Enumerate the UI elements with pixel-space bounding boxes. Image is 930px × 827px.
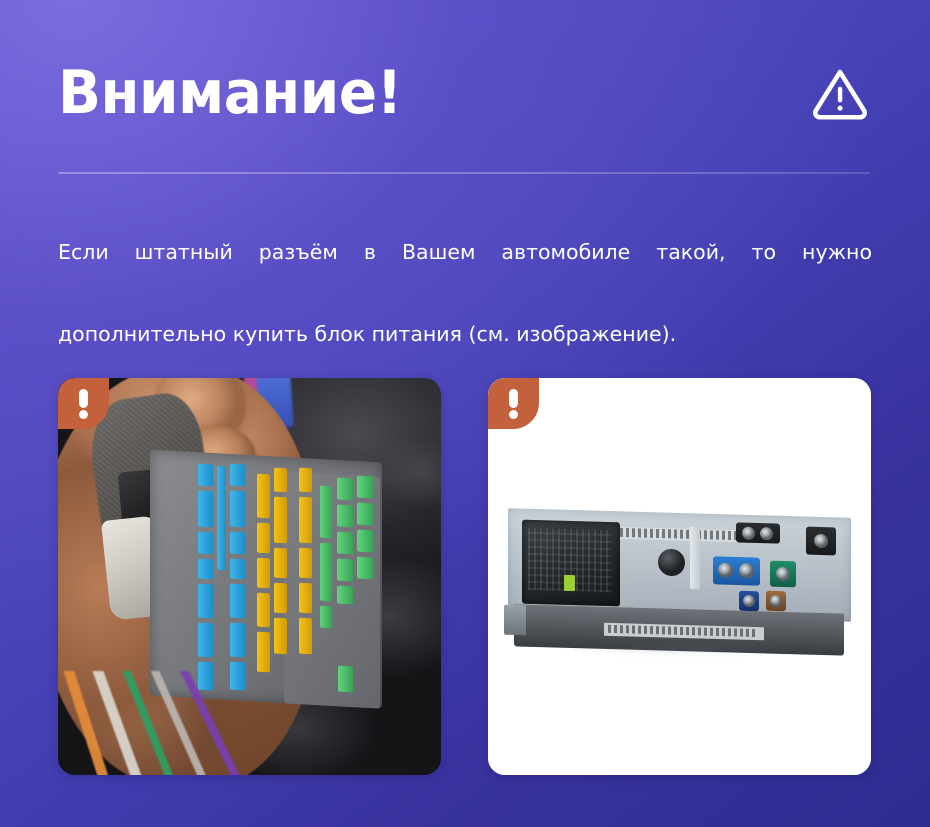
- pin-column-green-lower: [338, 666, 353, 693]
- exclamation-icon: [509, 389, 518, 419]
- pin-column-blue: [230, 464, 245, 691]
- wire-bundle: [58, 671, 284, 775]
- connector-photo: [58, 378, 441, 775]
- pin-column-yellow: [299, 468, 312, 655]
- pin-column-green: [320, 486, 332, 629]
- image-card-connector[interactable]: [58, 378, 441, 775]
- pin-column-yellow: [274, 468, 287, 655]
- module-navy-port: [739, 591, 759, 612]
- module-green-key: [564, 575, 575, 591]
- header-divider: [58, 172, 870, 174]
- image-card-group: [58, 378, 872, 775]
- module-vertical-panel: [690, 527, 700, 589]
- warning-badge: [488, 378, 539, 429]
- pin-column-yellow: [257, 474, 270, 673]
- exclamation-icon: [79, 389, 88, 419]
- pin-column-blue-tall: [217, 466, 226, 571]
- pin-column-green: [337, 478, 353, 605]
- pin-column-green: [357, 476, 373, 580]
- module-antenna-port-pair: [736, 522, 780, 543]
- page-title: Внимание!: [58, 61, 402, 125]
- header: Внимание!: [58, 52, 872, 134]
- module-blue-port-pair: [713, 556, 760, 585]
- module-round-port: [658, 549, 685, 577]
- body-copy-line-1: Если штатный разъём в Вашем автомобиле т…: [58, 232, 872, 314]
- image-card-power-supply[interactable]: [488, 378, 871, 775]
- module-shadow: [522, 644, 842, 654]
- module-brown-port: [766, 591, 786, 612]
- module-assembly: [508, 513, 851, 653]
- module-dark-port: [806, 527, 836, 556]
- pin-column-blue: [198, 464, 213, 691]
- body-copy: Если штатный разъём в Вашем автомобиле т…: [58, 232, 872, 355]
- warning-badge: [58, 378, 109, 429]
- module-green-port: [770, 561, 796, 588]
- warning-triangle-icon: [810, 63, 870, 123]
- power-supply-photo: [488, 378, 871, 775]
- body-copy-line-2: дополнительно купить блок питания (см. и…: [58, 314, 872, 355]
- module-mounting-bracket: [504, 605, 526, 636]
- warning-banner: Внимание! Если штатный разъём в Вашем ав…: [0, 0, 930, 827]
